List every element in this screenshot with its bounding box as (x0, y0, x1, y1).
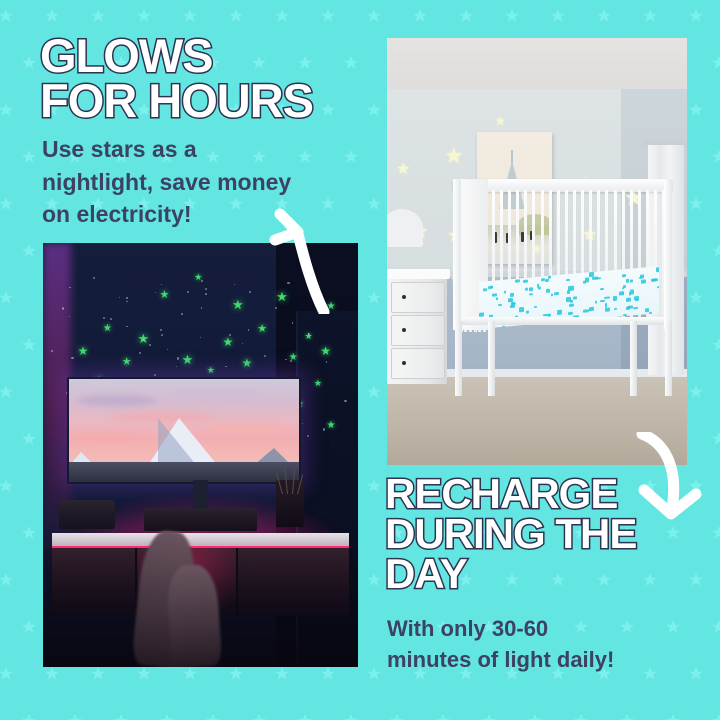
mattress-dot (515, 279, 520, 283)
glow-star: ★ (396, 162, 410, 178)
mattress-dot (504, 291, 506, 294)
ambient-speck (308, 333, 310, 335)
mattress-dot (622, 274, 626, 278)
glow-star: ★ (495, 115, 506, 127)
mattress-dot (604, 297, 610, 300)
glow-star: ★ (327, 421, 336, 431)
ceiling (387, 38, 687, 94)
ambient-speck (126, 301, 128, 303)
media-box (59, 500, 116, 530)
mattress-dot (656, 267, 659, 272)
soundbar (144, 508, 257, 531)
baby-crib (453, 179, 672, 401)
mattress-dot (605, 307, 611, 312)
ambient-speck (323, 428, 325, 430)
glow-star: ★ (241, 357, 252, 369)
curved-arrow-down-right-icon (612, 432, 717, 540)
drawer-knob (402, 328, 406, 332)
mattress-dot (614, 308, 617, 310)
crib-leg (665, 321, 672, 396)
glow-star: ★ (232, 298, 244, 311)
mattress-dot (586, 278, 590, 283)
ambient-speck (51, 350, 53, 352)
ambient-speck (326, 361, 327, 362)
glow-star: ★ (207, 366, 215, 375)
mattress-dot (524, 280, 529, 283)
ambient-speck (249, 291, 251, 293)
dresser-drawer (391, 282, 446, 313)
ambient-speck (201, 307, 202, 308)
mattress-dot (649, 312, 652, 316)
ambient-speck (69, 316, 70, 317)
mattress-dot (503, 326, 506, 329)
mattress-dot (626, 279, 629, 284)
mattress-dot (566, 279, 570, 282)
nursery-daytime-photo: ★★★★★★★★★★★★★★ (387, 38, 687, 465)
mattress-dot (519, 307, 524, 312)
glow-star: ★ (320, 345, 331, 357)
mattress-dot (525, 287, 528, 291)
mattress-dot (634, 307, 639, 310)
mattress-dot (529, 293, 533, 295)
ambient-speck (103, 317, 105, 319)
glow-star: ★ (182, 353, 194, 366)
glow-star: ★ (160, 290, 170, 301)
mattress-dot (530, 288, 534, 292)
glow-star: ★ (314, 379, 322, 388)
mattress-dot (547, 289, 551, 293)
dresser-top-surface (387, 269, 450, 279)
glow-star: ★ (444, 145, 464, 167)
dresser-drawer (391, 348, 446, 379)
glow-star: ★ (223, 336, 234, 348)
mattress-dot (613, 296, 618, 301)
ambient-speck (126, 365, 127, 366)
wall-mounted-tv (67, 377, 301, 485)
drawer-knob (402, 361, 406, 365)
mattress-dot (583, 310, 589, 313)
ambient-speck (242, 343, 243, 344)
mattress-dot (510, 293, 515, 297)
tv-mountain-base (69, 462, 299, 483)
mattress-dot (496, 297, 498, 300)
ambient-speck (62, 307, 64, 309)
glow-star: ★ (122, 357, 132, 368)
drawer-knob (402, 295, 406, 299)
mattress-dot (551, 293, 553, 296)
headline-glows-for-hours: GLOWS FOR HOURS (40, 34, 313, 123)
ambient-speck (181, 313, 183, 315)
ambient-speck (177, 357, 179, 359)
dresser (387, 273, 447, 384)
mattress-dot (568, 312, 573, 316)
crib-leg (488, 321, 495, 396)
ambient-speck (205, 293, 207, 295)
ambient-speck (187, 291, 189, 293)
mattress-dot (595, 301, 598, 305)
ambient-speck (143, 339, 145, 341)
mattress-dot (498, 304, 502, 306)
glow-star: ★ (257, 324, 267, 335)
curved-arrow-up-left-icon (268, 196, 368, 314)
mattress-dot (510, 305, 516, 309)
ambient-speck (167, 349, 168, 350)
mattress-dot (630, 280, 633, 283)
lamp-shade (387, 209, 423, 247)
eiffel-tower-spire (511, 150, 513, 164)
mattress-dot (657, 286, 659, 289)
mattress-dot (558, 310, 563, 315)
ambient-speck (110, 318, 112, 320)
mattress-pattern (479, 267, 659, 283)
ambient-speck (71, 357, 73, 359)
subcopy-recharge-time: With only 30-60 minutes of light daily! (387, 613, 707, 675)
crib-leg (630, 321, 637, 396)
ambient-speck (229, 334, 231, 336)
mattress-dot (622, 287, 624, 290)
mattress-dot (626, 298, 632, 302)
tv-cloud (78, 395, 156, 405)
crib-corner-post (664, 179, 672, 330)
dresser-drawer (391, 315, 446, 346)
mattress-dot (554, 293, 560, 296)
ambient-speck (307, 435, 309, 437)
headline-recharge-during-the-day: RECHARGE DURING THE DAY (385, 474, 636, 594)
mattress-dot (483, 288, 487, 292)
ambient-speck (119, 297, 120, 298)
ambient-speck (264, 355, 266, 357)
mattress-dot (526, 310, 530, 314)
mattress-dot (535, 306, 538, 308)
mattress-dot (569, 303, 575, 307)
crib-corner-post (453, 179, 461, 330)
mattress-dot (630, 290, 634, 295)
mattress-dot (545, 279, 549, 282)
crib-leg (455, 321, 462, 396)
glow-star: ★ (103, 324, 112, 334)
mattress-dot (593, 277, 599, 280)
mattress-dot (622, 293, 624, 296)
mattress-dot (590, 273, 594, 278)
mattress-dot (567, 290, 570, 295)
mattress-dot (573, 297, 577, 300)
reed-diffuser (276, 480, 304, 527)
glow-star: ★ (78, 345, 89, 357)
ambient-speck (109, 324, 110, 325)
mattress-dot (539, 287, 542, 290)
mattress-dot (641, 279, 647, 284)
mattress-dot (589, 307, 595, 312)
ambient-speck (126, 297, 127, 298)
mattress-dot (601, 288, 605, 290)
